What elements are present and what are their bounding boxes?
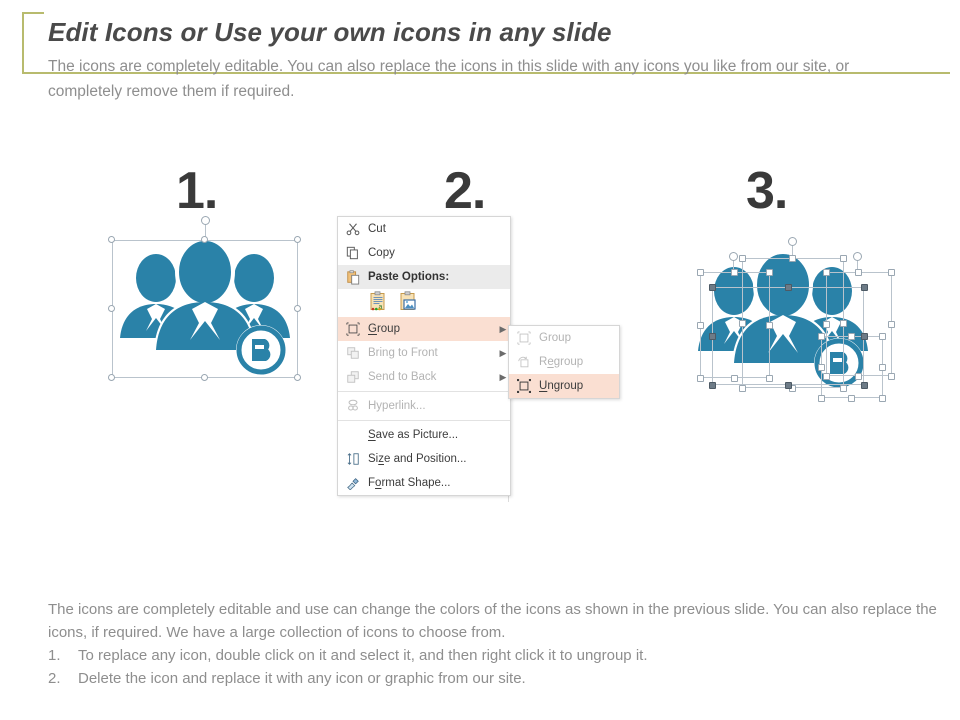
menu-item-hyperlink-label: Hyperlink... bbox=[368, 400, 510, 412]
selection-handle-e-badge[interactable] bbox=[879, 364, 886, 371]
selection-handle-w-body[interactable] bbox=[709, 333, 716, 340]
menu-item-bring-to-front[interactable]: Bring to Front ▶ bbox=[338, 341, 510, 365]
footer-list-item-1: 1. To replace any icon, double click on … bbox=[48, 644, 938, 667]
selection-handle-n-1[interactable] bbox=[201, 236, 208, 243]
menu-separator-2 bbox=[338, 420, 510, 421]
selection-handle-s-body[interactable] bbox=[785, 382, 792, 389]
selection-handle-sw-1[interactable] bbox=[108, 374, 115, 381]
selection-handle-se-center[interactable] bbox=[840, 385, 847, 392]
selection-handle-nw-badge[interactable] bbox=[818, 333, 825, 340]
submenu-item-ungroup[interactable]: Ungroup bbox=[509, 374, 619, 398]
paste-picture-icon[interactable] bbox=[398, 291, 418, 315]
menu-item-save-as-picture-label: Save as Picture... bbox=[368, 429, 510, 441]
footer-list-marker-2: 2. bbox=[48, 667, 78, 690]
selection-handle-w-badge[interactable] bbox=[818, 364, 825, 371]
menu-item-cut[interactable]: Cut bbox=[338, 217, 510, 241]
submenu-item-regroup-label: Regroup bbox=[539, 356, 619, 368]
selection-handle-sw-left[interactable] bbox=[697, 375, 704, 382]
selection-handle-ne-badge[interactable] bbox=[879, 333, 886, 340]
menu-item-save-as-picture[interactable]: Save as Picture... bbox=[338, 423, 510, 447]
selection-handle-n-body[interactable] bbox=[785, 284, 792, 291]
group-icon bbox=[509, 326, 539, 350]
page-title: Edit Icons or Use your own icons in any … bbox=[48, 17, 612, 48]
selection-rectangle-body[interactable] bbox=[712, 287, 864, 385]
selection-handle-nw-1[interactable] bbox=[108, 236, 115, 243]
menu-separator-1 bbox=[338, 391, 510, 392]
rotation-handle-3c[interactable] bbox=[853, 252, 862, 261]
submenu-item-regroup[interactable]: Regroup bbox=[509, 350, 619, 374]
menu-item-size-and-position-label: Size and Position... bbox=[368, 453, 510, 465]
menu-item-copy[interactable]: Copy bbox=[338, 241, 510, 265]
selection-handle-se-1[interactable] bbox=[294, 374, 301, 381]
hyperlink-icon bbox=[338, 394, 368, 418]
header-accent-top-line bbox=[22, 12, 44, 14]
step-number-3: 3. bbox=[746, 165, 787, 217]
selection-handle-e-right[interactable] bbox=[888, 321, 895, 328]
footer-list-text-1: To replace any icon, double click on it … bbox=[78, 644, 648, 667]
slide-header: Edit Icons or Use your own icons in any … bbox=[0, 0, 960, 110]
ungroup-icon bbox=[509, 374, 539, 398]
selection-handle-n-badge[interactable] bbox=[848, 333, 855, 340]
rotation-handle-1[interactable] bbox=[201, 216, 210, 225]
menu-item-format-shape[interactable]: Format Shape... bbox=[338, 471, 510, 495]
selection-handle-nw-right[interactable] bbox=[823, 269, 830, 276]
selection-handle-w-center[interactable] bbox=[739, 320, 746, 327]
group-icon bbox=[338, 317, 368, 341]
selection-handle-s-1[interactable] bbox=[201, 374, 208, 381]
selection-handle-w-left[interactable] bbox=[697, 322, 704, 329]
selection-handle-n-right[interactable] bbox=[855, 269, 862, 276]
footer-note: The icons are completely editable and us… bbox=[48, 598, 938, 690]
selection-handle-se-body[interactable] bbox=[861, 382, 868, 389]
scissors-icon bbox=[338, 217, 368, 241]
menu-item-send-to-back-label: Send to Back bbox=[368, 371, 496, 383]
selection-handle-sw-center[interactable] bbox=[739, 385, 746, 392]
selection-handle-s-left[interactable] bbox=[731, 375, 738, 382]
selection-handle-se-badge[interactable] bbox=[879, 395, 886, 402]
paste-keep-source-formatting-icon[interactable]: a bbox=[368, 291, 388, 315]
menu-item-format-shape-label: Format Shape... bbox=[368, 477, 510, 489]
menu-item-group-label: Group bbox=[368, 323, 496, 335]
selection-handle-ne-left[interactable] bbox=[766, 269, 773, 276]
selection-handle-e-center[interactable] bbox=[840, 320, 847, 327]
header-accent-vertical-line bbox=[22, 12, 24, 74]
selection-rectangle-step-1[interactable] bbox=[112, 240, 298, 378]
page-subtitle: The icons are completely editable. You c… bbox=[48, 54, 878, 104]
submenu-item-group[interactable]: Group bbox=[509, 326, 619, 350]
menu-item-size-and-position[interactable]: Size and Position... bbox=[338, 447, 510, 471]
selection-handle-sw-right[interactable] bbox=[823, 373, 830, 380]
rotation-handle-3b[interactable] bbox=[729, 252, 738, 261]
submenu-item-group-label: Group bbox=[539, 332, 619, 344]
copy-icon bbox=[338, 241, 368, 265]
size-position-icon bbox=[338, 447, 368, 471]
step-number-2: 2. bbox=[444, 165, 485, 217]
selection-handle-ne-center[interactable] bbox=[840, 255, 847, 262]
selection-handle-sw-badge[interactable] bbox=[818, 395, 825, 402]
selection-handle-ne-right[interactable] bbox=[888, 269, 895, 276]
selection-handle-n-center[interactable] bbox=[789, 255, 796, 262]
selection-handle-nw-left[interactable] bbox=[697, 269, 704, 276]
paste-icon bbox=[338, 265, 368, 289]
selection-handle-ne-body[interactable] bbox=[861, 284, 868, 291]
menu-item-bring-to-front-label: Bring to Front bbox=[368, 347, 496, 359]
selection-handle-s-badge[interactable] bbox=[848, 395, 855, 402]
selection-handle-n-left[interactable] bbox=[731, 269, 738, 276]
selection-handle-e-body[interactable] bbox=[861, 333, 868, 340]
menu-item-group[interactable]: Group ▶ bbox=[338, 317, 510, 341]
menu-item-paste-options: Paste Options: bbox=[338, 265, 510, 289]
menu-item-copy-label: Copy bbox=[368, 247, 510, 259]
group-submenu[interactable]: Group Regroup Ungroup bbox=[508, 325, 620, 399]
footer-list-item-2: 2. Delete the icon and replace it with a… bbox=[48, 667, 938, 690]
step-number-1: 1. bbox=[176, 165, 217, 217]
submenu-item-ungroup-label: Ungroup bbox=[539, 380, 619, 392]
no-icon bbox=[338, 423, 368, 447]
selection-handle-se-right[interactable] bbox=[888, 373, 895, 380]
selection-handle-nw-body[interactable] bbox=[709, 284, 716, 291]
send-to-back-icon bbox=[338, 365, 368, 389]
selection-handle-se-left[interactable] bbox=[766, 375, 773, 382]
regroup-icon bbox=[509, 350, 539, 374]
format-shape-icon bbox=[338, 471, 368, 495]
selection-handle-e-1[interactable] bbox=[294, 305, 301, 312]
selection-handle-w-right[interactable] bbox=[823, 321, 830, 328]
paste-options-row[interactable]: a bbox=[338, 289, 510, 317]
slide-canvas: Edit Icons or Use your own icons in any … bbox=[0, 0, 960, 720]
footer-paragraph: The icons are completely editable and us… bbox=[48, 598, 938, 644]
selection-handle-nw-center[interactable] bbox=[739, 255, 746, 262]
menu-item-send-to-back[interactable]: Send to Back ▶ bbox=[338, 365, 510, 389]
selection-handle-sw-body[interactable] bbox=[709, 382, 716, 389]
bring-to-front-icon bbox=[338, 341, 368, 365]
menu-item-hyperlink[interactable]: Hyperlink... bbox=[338, 394, 510, 418]
menu-item-paste-options-label: Paste Options: bbox=[368, 271, 510, 283]
rotation-handle-3a[interactable] bbox=[788, 237, 797, 246]
footer-list-text-2: Delete the icon and replace it with any … bbox=[78, 667, 526, 690]
selection-handle-e-left[interactable] bbox=[766, 322, 773, 329]
footer-list-marker-1: 1. bbox=[48, 644, 78, 667]
selection-handle-w-1[interactable] bbox=[108, 305, 115, 312]
selection-handle-ne-1[interactable] bbox=[294, 236, 301, 243]
context-menu[interactable]: Cut Copy Paste Options: a bbox=[337, 216, 511, 496]
menu-item-cut-label: Cut bbox=[368, 223, 510, 235]
selection-handle-s-right[interactable] bbox=[855, 373, 862, 380]
